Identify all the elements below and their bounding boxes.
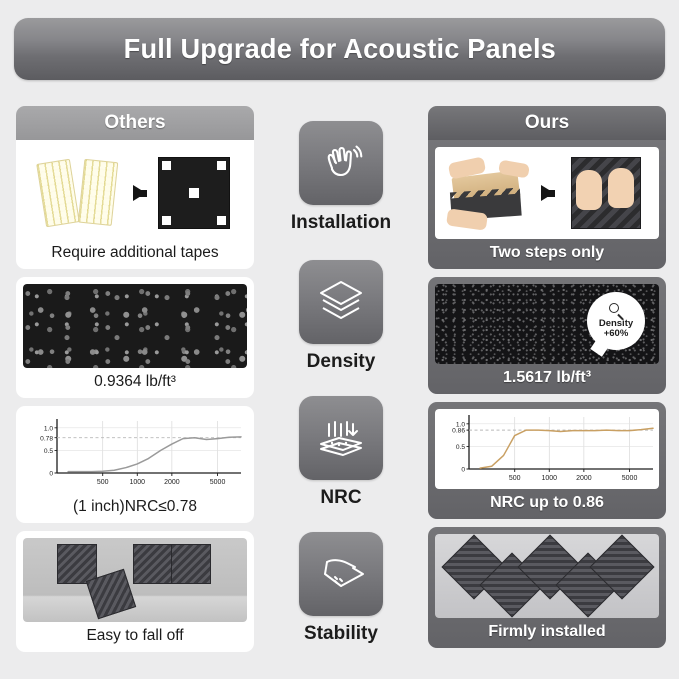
svg-text:5000: 5000 — [622, 475, 638, 482]
ours-nrc-chart: 00.50.861.0500100020005000 — [435, 409, 659, 489]
feature-stability: Stability — [262, 520, 420, 656]
svg-text:0.5: 0.5 — [456, 444, 465, 451]
sound-absorption-icon — [299, 396, 383, 480]
feature-density: Density — [262, 248, 420, 384]
peeling-hands-icon — [447, 156, 531, 230]
others-nrc-chart-svg: 00.50.781.0500100020005000 — [23, 413, 247, 493]
wall-panel-icon — [133, 544, 173, 584]
page-title-banner: Full Upgrade for Acoustic Panels — [14, 18, 665, 80]
ours-density-card: Density +60% 1.5617 lb/ft³ — [428, 277, 666, 394]
loose-foam-texture-icon — [23, 284, 247, 368]
feature-nrc-label: NRC — [320, 487, 361, 509]
others-density-card: 0.9364 lb/ft³ — [16, 277, 254, 398]
ours-installation-card: Two steps only — [428, 140, 666, 269]
feature-stability-label: Stability — [304, 623, 378, 645]
ours-column-header: Ours — [428, 106, 666, 140]
others-column: Others Require additional tapes 0.9364 l… — [16, 106, 254, 660]
svg-text:500: 500 — [509, 475, 521, 482]
others-column-header: Others — [16, 106, 254, 140]
others-nrc-card: 00.50.781.0500100020005000 (1 inch)NRC≤0… — [16, 406, 254, 523]
tape-sheet-icon — [36, 159, 80, 228]
others-installation-caption: Require additional tapes — [49, 239, 220, 265]
ours-column: Ours Two steps only — [428, 106, 666, 656]
density-bubble-line2: +60% — [604, 329, 629, 339]
pressing-hands-icon — [564, 156, 648, 230]
panel-adhesion-icon — [299, 532, 383, 616]
arrow-right-icon — [541, 185, 554, 201]
ours-nrc-chart-svg: 00.50.861.0500100020005000 — [435, 409, 659, 489]
ours-density-caption: 1.5617 lb/ft³ — [501, 364, 593, 390]
others-stability-card: Easy to fall off — [16, 531, 254, 652]
svg-text:1000: 1000 — [129, 479, 145, 486]
svg-text:0.86: 0.86 — [452, 428, 465, 435]
others-density-caption: 0.9364 lb/ft³ — [92, 368, 178, 394]
others-installation-image — [23, 147, 247, 239]
others-nrc-chart: 00.50.781.0500100020005000 — [23, 413, 247, 493]
dense-foam-texture-icon: Density +60% — [435, 284, 659, 364]
ours-stability-image — [435, 534, 659, 618]
ours-installation-image — [435, 147, 659, 239]
svg-text:500: 500 — [97, 479, 109, 486]
svg-text:2000: 2000 — [164, 479, 180, 486]
ours-installation-caption: Two steps only — [488, 239, 606, 265]
svg-text:0: 0 — [461, 467, 465, 474]
feature-density-label: Density — [307, 351, 376, 373]
feature-column: Installation Density NRC — [262, 106, 420, 656]
others-installation-card: Require additional tapes — [16, 140, 254, 269]
svg-text:1000: 1000 — [541, 475, 557, 482]
svg-text:0: 0 — [49, 471, 53, 478]
feature-installation: Installation — [262, 106, 420, 248]
svg-text:0.5: 0.5 — [44, 448, 53, 455]
density-callout-badge: Density +60% — [587, 292, 645, 350]
svg-text:1.0: 1.0 — [456, 421, 465, 428]
arrow-right-icon — [133, 185, 146, 201]
waving-hand-icon — [299, 121, 383, 205]
others-nrc-caption: (1 inch)NRC≤0.78 — [71, 493, 199, 519]
ours-nrc-card: 00.50.861.0500100020005000 NRC up to 0.8… — [428, 402, 666, 519]
feature-installation-label: Installation — [291, 212, 391, 234]
ours-stability-caption: Firmly installed — [486, 618, 607, 644]
ours-nrc-caption: NRC up to 0.86 — [488, 489, 606, 515]
wall-panel-icon — [171, 544, 211, 584]
others-density-image — [23, 284, 247, 368]
page-title: Full Upgrade for Acoustic Panels — [123, 33, 555, 65]
wall-panel-icon — [57, 544, 97, 584]
svg-text:2000: 2000 — [576, 475, 592, 482]
ours-header-label: Ours — [525, 112, 569, 134]
others-header-label: Others — [104, 112, 165, 134]
stacked-layers-icon — [299, 260, 383, 344]
others-stability-image — [23, 538, 247, 622]
acoustic-panel-icon — [158, 157, 230, 229]
tape-sheet-icon — [77, 159, 118, 226]
magnifier-icon — [609, 303, 624, 318]
svg-text:1.0: 1.0 — [44, 425, 53, 432]
ours-stability-card: Firmly installed — [428, 527, 666, 648]
svg-text:0.78: 0.78 — [40, 435, 53, 442]
feature-nrc: NRC — [262, 384, 420, 520]
others-stability-caption: Easy to fall off — [84, 622, 185, 648]
ours-density-image: Density +60% — [435, 284, 659, 364]
svg-text:5000: 5000 — [210, 479, 226, 486]
